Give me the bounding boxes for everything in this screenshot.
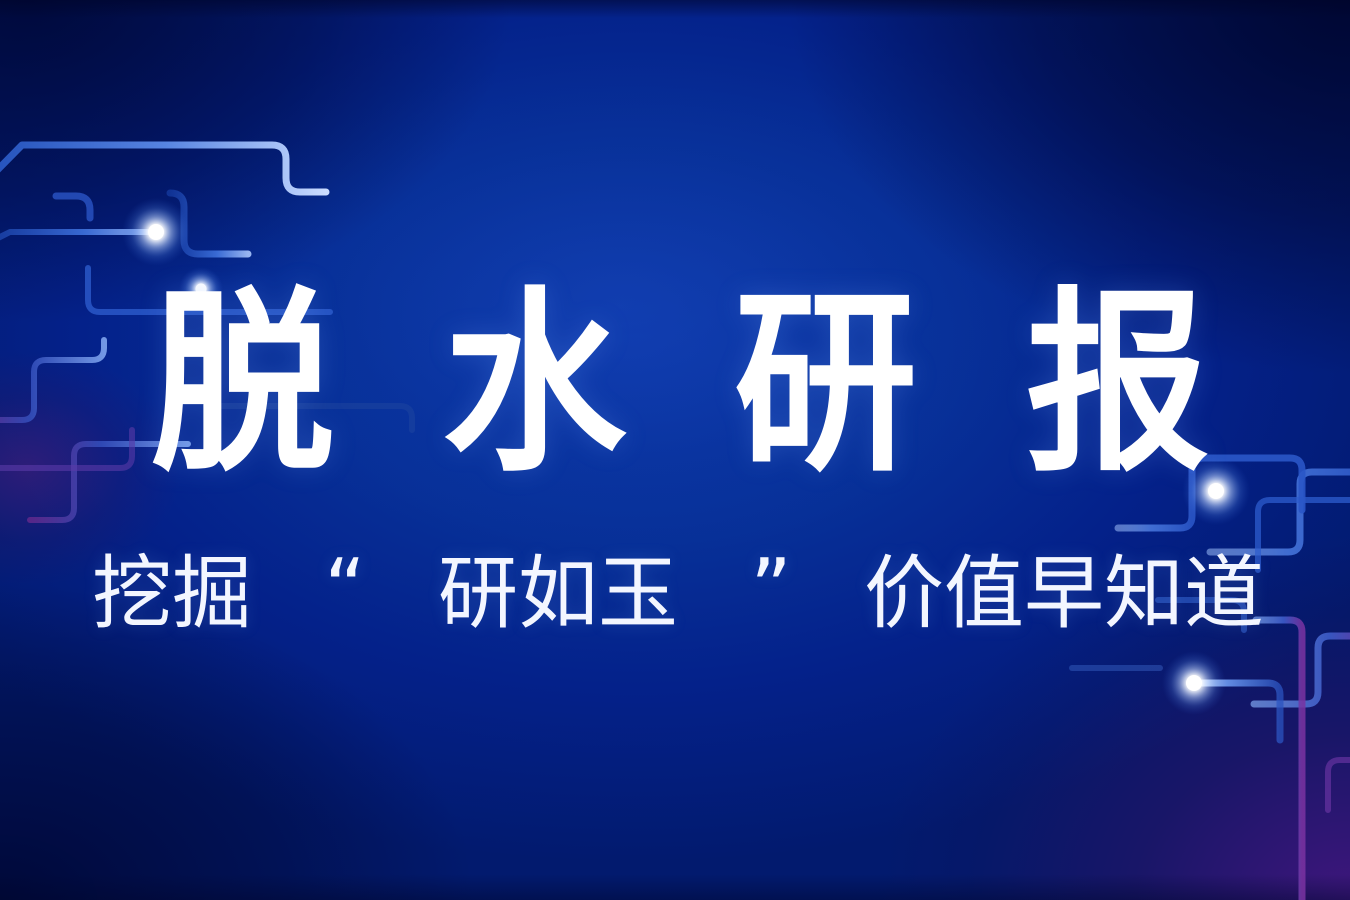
circuit-trace-left-9 [0,430,132,468]
title-char-1: 脱 [151,286,334,482]
subtitle-word-wajue: 挖掘 [92,554,252,634]
circuit-trace-left-8 [30,444,188,520]
circuit-trace-right-8 [1158,600,1244,630]
background-bottom-edge-shade [0,0,1350,900]
glow-dot-right-upper [1182,457,1250,525]
glow-dot-right-lower-core [1186,675,1202,691]
circuit-trace-right-9 [1328,760,1350,810]
glow-dot-left-lower [179,267,223,311]
circuit-trace-left-10 [206,406,412,430]
circuit-trace-left-2 [170,193,248,254]
banner-root: 脱 水 研 报 挖掘 “ 研如玉 ” 价值早知道 [0,0,1350,900]
background-core-glow [0,0,1350,900]
circuit-trace-left-1 [0,145,326,198]
glow-dot-right-upper-core [1208,483,1224,499]
glow-dot-left-lower-core [196,284,207,295]
glow-dot-left-upper [122,198,190,266]
text-block: 脱 水 研 报 挖掘 “ 研如玉 ” 价值早知道 [0,0,1350,900]
page-title: 脱 水 研 报 [150,282,1210,487]
circuit-trace-right-5 [1254,636,1350,704]
circuit-trace-left-4 [0,232,160,252]
subtitle-quote-close: ” [750,549,791,629]
circuit-trace-left-3 [56,196,90,218]
title-char-4: 报 [1026,286,1209,482]
circuit-trace-left-7 [0,340,104,420]
title-char-2: 水 [443,286,626,482]
subtitle-quote-open: “ [324,549,365,629]
glow-dot-right-lower [1162,651,1226,715]
circuit-trace-right-3 [1192,458,1302,510]
circuit-trace-right-4 [1118,470,1192,528]
background-top-edge-shade [0,0,1350,900]
glow-dot-left-upper-core [148,224,164,240]
page-subtitle: 挖掘 “ 研如玉 ” 价值早知道 [92,546,1264,642]
circuit-trace-right-6 [1256,620,1302,900]
circuit-trace-right-7 [1198,683,1280,740]
background-violet-bottom-right [0,0,1350,900]
subtitle-word-jiazhi-zaozhidao: 价值早知道 [864,554,1264,634]
circuit-trace-right-1 [1210,472,1350,552]
glow-dot-group [122,198,1250,715]
circuit-trace-left-6 [88,268,330,312]
background-base-gradient [0,0,1350,900]
circuit-decoration [0,0,1350,900]
background-vignette-top-right [0,0,1350,900]
background-vignette-top-left [0,0,1350,900]
background-vignette-bottom-left [0,0,1350,900]
background-violet-left [0,0,1350,900]
circuit-trace-right-2 [1258,500,1350,570]
title-char-3: 研 [734,286,917,482]
subtitle-word-yanruyu: 研如玉 [438,554,678,634]
